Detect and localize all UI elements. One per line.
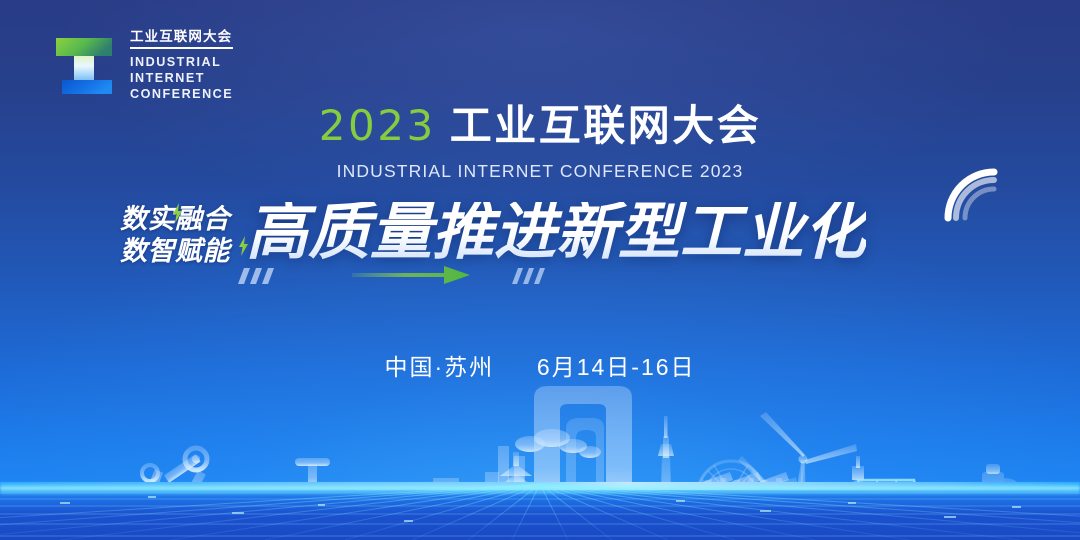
industrial-valve: [243, 458, 383, 522]
slogan-line-1: 数实融合: [120, 206, 230, 233]
slogan-inner: 数实融合 数智赋能 高质量推进新型工业化: [120, 178, 960, 288]
event-details: 中国·苏州 6月14日-16日: [0, 348, 1080, 382]
lightning-bolt-icon: [172, 203, 183, 223]
wind-turbine: [738, 456, 797, 536]
chinese-pagoda: [490, 452, 542, 522]
slogan-primary: 高质量推进新型工业化: [246, 202, 866, 264]
cargo-truck: [1026, 490, 1078, 523]
speed-lines: [512, 268, 552, 284]
logo-chinese-name: 工业互联网大会: [130, 30, 233, 49]
wind-turbine: [822, 483, 863, 536]
horizon-glow-line: [0, 482, 1080, 496]
chinese-pagoda: [101, 510, 145, 522]
suzhou-landmarks-layer: [0, 360, 1080, 540]
city-blocks: [440, 500, 696, 522]
storage-tank: [982, 464, 1031, 523]
tv-tower: [655, 416, 677, 522]
solar-panel: [858, 480, 972, 539]
slogan-block: 数实融合 数智赋能 高质量推进新型工业化: [0, 178, 1080, 288]
perspective-data-grid: [0, 482, 1080, 540]
event-location: 中国·苏州: [384, 354, 494, 380]
logo-en-line-1: INDUSTRIAL: [130, 54, 233, 70]
ferris-wheel: [698, 461, 764, 536]
conference-title-block: 2023 工业互联网大会 INDUSTRIAL INTERNET CONFERE…: [0, 92, 1080, 182]
title-year: 2023: [319, 101, 436, 150]
event-dates: 6月14日-16日: [537, 354, 696, 380]
slogan-secondary: 数实融合 数智赋能: [120, 202, 230, 265]
suspension-bridge: [888, 494, 1040, 522]
logo-en-line-2: INTERNET: [130, 70, 233, 86]
title-row: 2023 工业互联网大会: [0, 92, 1080, 153]
industrial-city-skyline: [0, 360, 1080, 540]
factory-building: [433, 472, 634, 522]
conference-t-mark-icon: [52, 34, 116, 98]
oil-pumpjack: [690, 472, 789, 520]
wind-turbine: [760, 412, 857, 536]
wifi-signal-icon: [940, 164, 1004, 226]
gate-of-the-orient: [534, 386, 632, 522]
chinese-pagoda: [830, 456, 886, 522]
slogan-line-2: 数智赋能: [120, 238, 230, 265]
speed-lines: [238, 268, 284, 284]
slogan-line-2-text: 数智赋能: [120, 236, 230, 266]
green-arrow-icon: [352, 264, 470, 286]
title-chinese: 工业互联网大会: [450, 92, 762, 153]
robotic-arm: [142, 448, 230, 524]
factory-smokestacks: [498, 429, 601, 520]
conference-banner: 工业互联网大会 INDUSTRIAL INTERNET CONFERENCE 2…: [0, 0, 1080, 540]
